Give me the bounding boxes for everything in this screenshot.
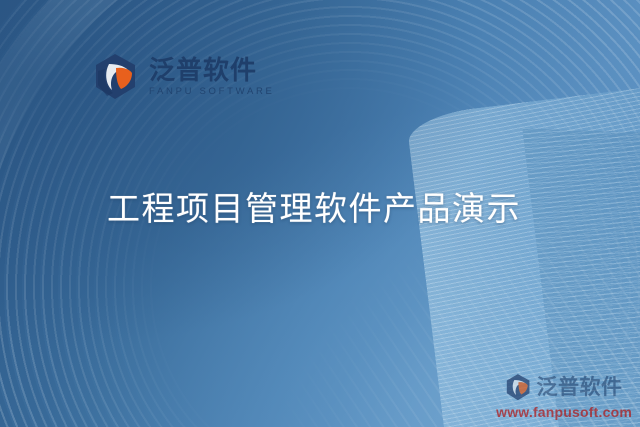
site-watermark: 泛普软件 www.fanpusoft.com xyxy=(496,373,632,419)
watermark-url: www.fanpusoft.com xyxy=(496,405,632,419)
brand-logo: 泛普软件 FANPU SOFTWARE xyxy=(95,52,275,102)
watermark-brand-name: 泛普软件 xyxy=(537,377,623,398)
brand-wordmark: 泛普软件 FANPU SOFTWARE xyxy=(149,58,275,97)
watermark-logo-row: 泛普软件 xyxy=(506,373,623,402)
fanpu-hexagon-sail-logo-icon xyxy=(506,373,532,402)
fanpu-hexagon-sail-logo-icon xyxy=(95,52,139,102)
presentation-slide: 泛普软件 FANPU SOFTWARE 工程项目管理软件产品演示 泛普软件 ww… xyxy=(0,0,640,427)
brand-name-cn: 泛普软件 xyxy=(149,58,275,85)
brand-name-en: FANPU SOFTWARE xyxy=(149,87,275,97)
slide-title: 工程项目管理软件产品演示 xyxy=(0,182,640,230)
